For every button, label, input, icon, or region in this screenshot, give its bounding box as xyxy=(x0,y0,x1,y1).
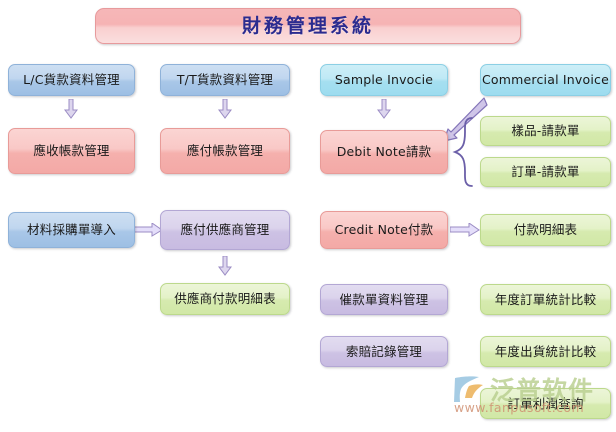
arrow-sample-invoice-to-debit-note xyxy=(377,99,391,119)
node-payable[interactable]: 應付帳款管理 xyxy=(160,128,290,174)
node-tt-payment[interactable]: T/T貨款資料管理 xyxy=(160,64,290,96)
node-sample-billing[interactable]: 樣品-請款單 xyxy=(480,116,611,146)
node-claim-record[interactable]: 索賠記錄管理 xyxy=(320,336,448,367)
brace-debit-note-outputs xyxy=(452,116,476,188)
arrow-material-purchase-to-supplier-payable xyxy=(133,223,163,237)
node-receivable[interactable]: 應收帳款管理 xyxy=(8,128,135,174)
arrow-supplier-payable-to-detail xyxy=(218,256,232,276)
diagram-title: 財務管理系統 xyxy=(95,8,521,44)
node-sample-invoice[interactable]: Sample Invocie xyxy=(320,64,448,96)
node-material-purchase[interactable]: 材料採購單導入 xyxy=(8,212,135,248)
node-commercial-invoice[interactable]: Commercial Invoice xyxy=(480,64,611,96)
diagram-canvas: 財務管理系統 L/C貨款資料管理 T/T貨款資料管理 Sample Invoci… xyxy=(0,0,616,432)
node-order-billing[interactable]: 訂單-請款單 xyxy=(480,157,611,187)
node-order-profit-query[interactable]: 訂單利潤查詢 xyxy=(480,388,611,419)
arrow-tt-to-payable xyxy=(218,99,232,119)
node-credit-note[interactable]: Credit Note付款 xyxy=(320,211,448,249)
node-supplier-payment-detail[interactable]: 供應商付款明細表 xyxy=(160,283,290,315)
node-payment-detail[interactable]: 付款明細表 xyxy=(480,214,611,246)
node-lc-payment[interactable]: L/C貨款資料管理 xyxy=(8,64,135,96)
node-annual-order-stats[interactable]: 年度訂單統計比較 xyxy=(480,284,611,315)
node-supplier-payable[interactable]: 應付供應商管理 xyxy=(160,210,290,250)
arrow-credit-note-to-payment-detail xyxy=(450,223,480,237)
node-annual-shipment-stats[interactable]: 年度出貨統計比較 xyxy=(480,336,611,367)
node-dunning-note[interactable]: 催款單資料管理 xyxy=(320,284,448,315)
arrow-lc-to-receivable xyxy=(64,99,78,119)
node-debit-note[interactable]: Debit Note請款 xyxy=(320,130,448,174)
